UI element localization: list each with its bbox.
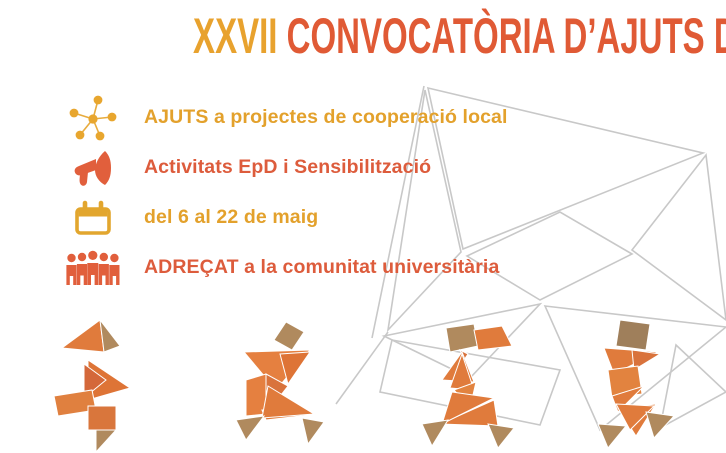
tangram-figure-1 (44, 318, 164, 453)
page-title: XXVIICONVOCATÒRIA D’AJUTS DEL CCD2019 (0, 8, 726, 64)
network-nodes-icon (62, 95, 124, 141)
bullet-label-adrecat: ADREÇAT a la comunitat universitària (144, 256, 499, 279)
bullet-label-dates: del 6 al 22 de maig (144, 206, 318, 229)
bullet-row-adrecat: ADREÇAT a la comunitat universitària (62, 243, 508, 292)
bullet-label-ajuts: AJUTS a projectes de cooperació local (144, 106, 508, 129)
tangram-figure-2 (232, 310, 352, 453)
people-group-icon (62, 245, 124, 291)
tangram-figure-4 (582, 312, 697, 453)
calendar-icon (62, 195, 124, 241)
title-main: CONVOCATÒRIA D’AJUTS DEL CCD (287, 8, 726, 64)
title-prefix: XXVII (193, 8, 277, 64)
tangram-figure-3 (420, 320, 550, 453)
poster-canvas: XXVIICONVOCATÒRIA D’AJUTS DEL CCD2019 (0, 0, 726, 453)
bullet-row-activitats: Activitats EpD i Sensibilització (62, 143, 508, 192)
bullet-row-ajuts: AJUTS a projectes de cooperació local (62, 93, 508, 142)
bullet-row-dates: del 6 al 22 de maig (62, 193, 508, 242)
megaphone-icon (62, 145, 124, 191)
bullet-label-activitats: Activitats EpD i Sensibilització (144, 156, 431, 179)
bullet-list: AJUTS a projectes de cooperació local Ac… (62, 93, 508, 293)
